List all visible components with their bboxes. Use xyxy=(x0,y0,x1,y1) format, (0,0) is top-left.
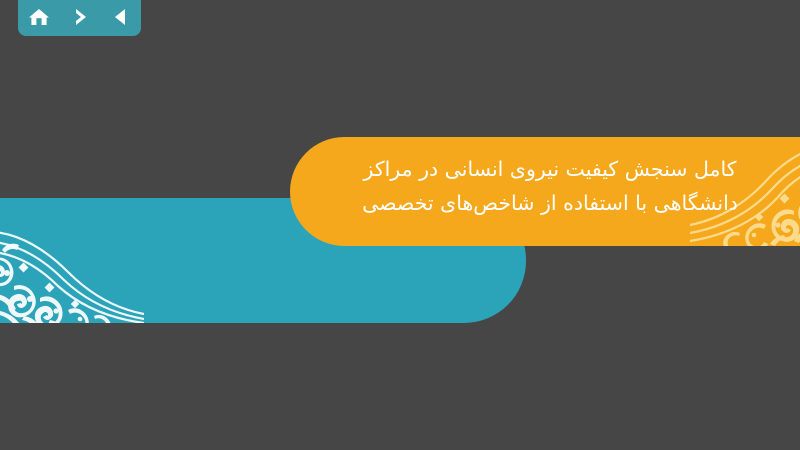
title-line-2: دانشگاهی با استفاده از شاخص‌های تخصصی xyxy=(330,186,770,220)
slide-title: کامل سنجش کیفیت نیروی انسانی در مراکز دا… xyxy=(330,152,770,220)
back-button[interactable] xyxy=(106,4,136,30)
title-line-1: کامل سنجش کیفیت نیروی انسانی در مراکز xyxy=(330,152,770,186)
home-icon xyxy=(28,7,50,27)
forward-icon xyxy=(70,7,90,27)
slide-canvas: کامل سنجش کیفیت نیروی انسانی در مراکز دا… xyxy=(0,0,800,450)
navigation-bar[interactable] xyxy=(18,0,141,36)
teal-arabesque-ornament xyxy=(0,198,144,323)
home-button[interactable] xyxy=(24,4,54,30)
forward-button[interactable] xyxy=(65,4,95,30)
back-icon xyxy=(111,7,131,27)
